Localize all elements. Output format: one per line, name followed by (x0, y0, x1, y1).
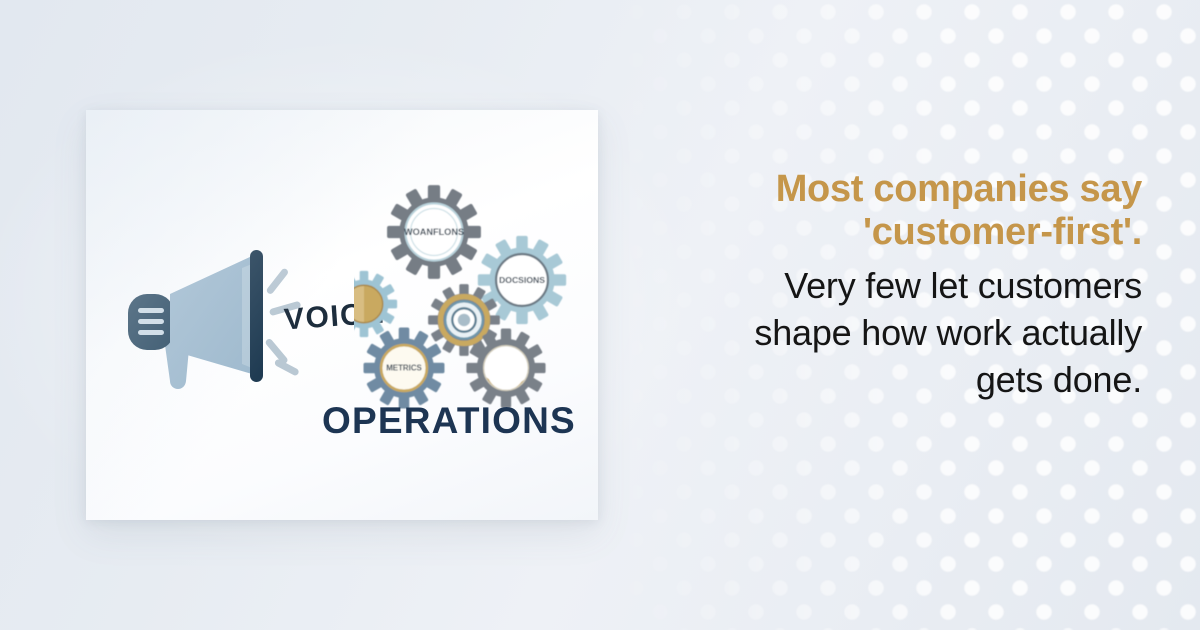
subline-line-2: shape how work actually (644, 310, 1142, 357)
operations-label: OPERATIONS (322, 400, 576, 442)
illustration-card-inner: VOICE (86, 110, 598, 520)
gear-decisions-label: DOCSIONS (499, 275, 545, 285)
subline-line-3: gets done. (644, 357, 1142, 404)
gear-metrics-label: METRICS (386, 364, 422, 373)
gear-cluster: WOANFLONS DOCSIONS (354, 172, 586, 422)
subline-line-1: Very few let customers (644, 263, 1142, 310)
headline-line-2: 'customer-first'. (644, 211, 1142, 254)
gear-workflows-label: WOANFLONS (404, 227, 464, 237)
gear-brass-left (354, 271, 397, 337)
headline-line-1: Most companies say (644, 168, 1142, 211)
headline: Most companies say 'customer-first'. (644, 168, 1142, 253)
gear-decisions: DOCSIONS (478, 236, 566, 324)
gear-metrics: METRICS (364, 328, 445, 409)
gear-workflows: WOANFLONS (387, 185, 481, 279)
slide-canvas: VOICE (0, 0, 1200, 630)
illustration-card: VOICE (86, 110, 598, 520)
subline: Very few let customers shape how work ac… (644, 263, 1142, 403)
message-text-block: Most companies say 'customer-first'. Ver… (644, 168, 1142, 403)
